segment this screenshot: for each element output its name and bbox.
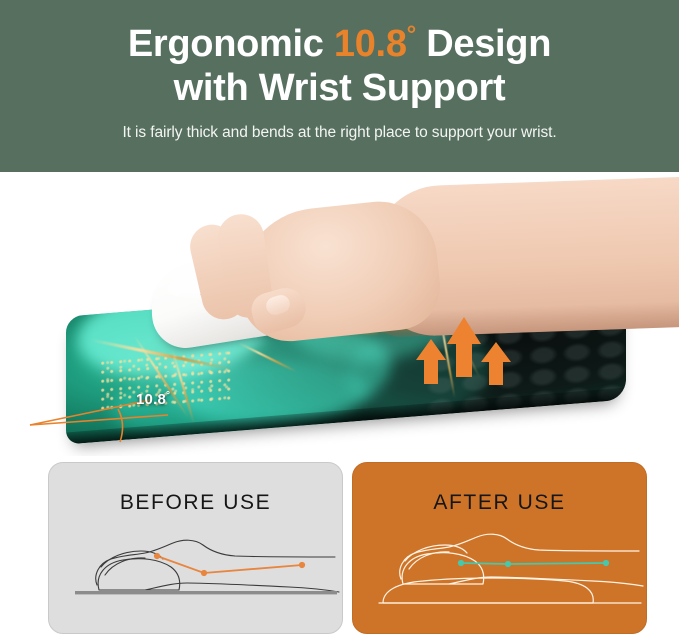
- comparison-section: BEFORE USE AFTER USE: [0, 462, 679, 644]
- up-arrow-icon: [447, 317, 481, 377]
- page-title-line2: with Wrist Support: [174, 66, 506, 110]
- title-text-part1: Ergonomic: [128, 23, 334, 65]
- title-angle-value: 10.8: [334, 23, 407, 65]
- title-text-part2: Design: [416, 23, 551, 65]
- page-subtitle: It is fairly thick and bends at the righ…: [122, 124, 556, 142]
- infographic-page: Ergonomic 10.8° Design with Wrist Suppor…: [0, 0, 679, 644]
- finger-outline: [105, 558, 145, 575]
- angle-point: [154, 553, 160, 559]
- desk-surface: [75, 591, 337, 594]
- wrist-angle-line: [461, 563, 606, 564]
- angle-point: [458, 560, 464, 566]
- header-banner: Ergonomic 10.8° Design with Wrist Suppor…: [0, 0, 679, 172]
- angle-point: [603, 560, 609, 566]
- wrist-outline: [145, 583, 339, 592]
- up-arrow-icon: [416, 339, 446, 384]
- wrist-angle-line: [157, 556, 302, 573]
- degree-symbol-icon: °: [407, 21, 416, 48]
- page-title: Ergonomic 10.8° Design: [128, 22, 551, 66]
- product-photo: 10.8°: [0, 172, 679, 456]
- panel-before-use: BEFORE USE: [48, 462, 343, 634]
- before-use-illustration: [49, 463, 344, 635]
- finger-outline: [409, 552, 449, 569]
- panel-after-use: AFTER USE: [352, 462, 647, 634]
- angle-point: [299, 562, 305, 568]
- support-arrows: [0, 172, 679, 456]
- angle-point: [201, 570, 207, 576]
- after-use-illustration: [353, 463, 648, 635]
- wrist-rest-outline: [383, 578, 593, 603]
- angle-point: [505, 561, 511, 567]
- up-arrow-icon: [481, 342, 511, 385]
- hand-outline: [400, 534, 639, 579]
- hand-outline: [96, 540, 335, 585]
